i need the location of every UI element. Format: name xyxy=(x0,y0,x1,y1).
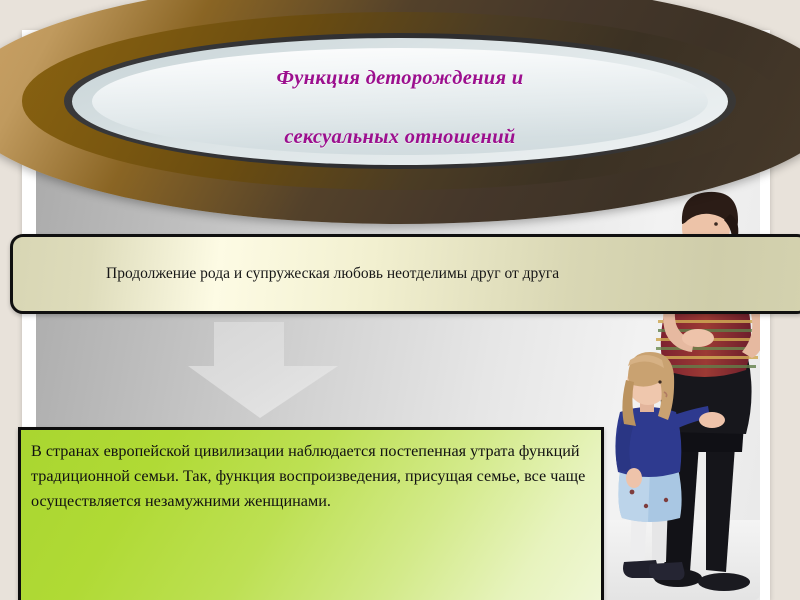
page-title: Функция деторождения и сексуальных отнош… xyxy=(0,0,800,224)
page-title-line-2: сексуальных отношений xyxy=(277,123,524,152)
slide-canvas: Продолжение рода и супружеская любовь не… xyxy=(0,0,800,600)
title-oval: Функция деторождения и сексуальных отнош… xyxy=(0,0,800,224)
callout-yellow-text: Продолжение рода и супружеская любовь не… xyxy=(13,265,559,283)
page-title-line-1: Функция деторождения и xyxy=(277,64,524,93)
callout-yellow: Продолжение рода и супружеская любовь не… xyxy=(10,234,800,314)
down-arrow-icon xyxy=(188,322,400,422)
callout-green-text: В странах европейской цивилизации наблюд… xyxy=(21,430,601,513)
callout-green: В странах европейской цивилизации наблюд… xyxy=(18,427,604,600)
